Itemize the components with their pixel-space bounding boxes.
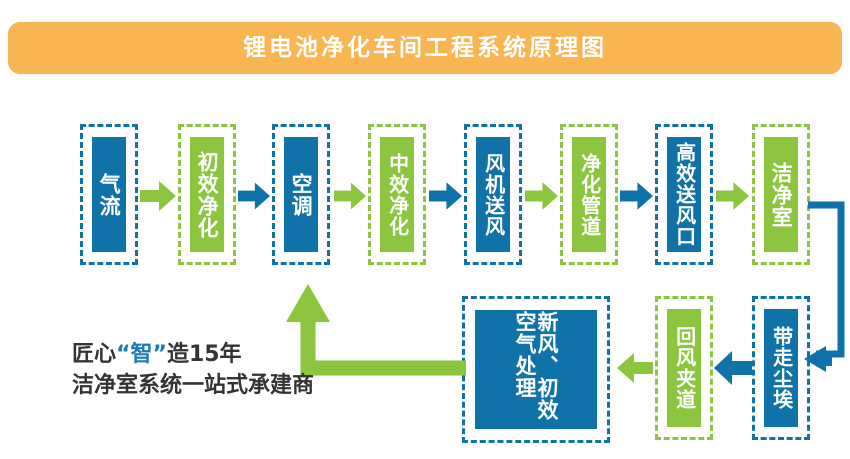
flow-arrow-8-left-icon (617, 353, 653, 383)
node-fill: 洁净室 (764, 137, 798, 252)
flow-node-label: 新风、初效空气处理 (514, 311, 558, 429)
flow-arrow-6-right-icon (620, 181, 653, 211)
flow-arrow-7-right-icon (716, 181, 749, 211)
node-fill: 中效净化 (380, 137, 414, 252)
flow-node-label: 高效送风口 (673, 142, 694, 247)
flow-arrow-2-right-icon (238, 181, 270, 211)
flow-node-label: 中效净化 (386, 153, 407, 237)
flow-node-carry-away-dust[interactable]: 带走尘埃 (752, 296, 810, 440)
flow-node-cleanroom[interactable]: 洁净室 (752, 124, 810, 265)
flow-node-return-air-duct[interactable]: 回风夹道 (655, 296, 713, 440)
tagline-line1-accent: “智” (116, 342, 167, 367)
flow-node-primary-filter[interactable]: 初效净化 (178, 124, 236, 265)
node-fill: 空调 (284, 137, 318, 252)
page-title: 锂电池净化车间工程系统原理图 (243, 37, 607, 60)
flow-node-label: 风机送风 (482, 153, 503, 237)
diagram-canvas: 锂电池净化车间工程系统原理图 气流 初效净化 空调 中效净化 风机送风 净化管道 (0, 0, 850, 459)
flow-node-label: 回风夹道 (673, 326, 694, 410)
flow-node-fresh-air-treatment[interactable]: 新风、初效空气处理 (462, 296, 610, 443)
flow-node-label: 洁净室 (770, 162, 792, 228)
flow-node-fan-supply[interactable]: 风机送风 (464, 124, 522, 265)
flow-arrow-5-right-icon (525, 181, 558, 211)
node-fill: 新风、初效空气处理 (475, 310, 597, 429)
node-fill: 回风夹道 (667, 309, 701, 427)
tagline-line-1: 匠心“智”造15年 (72, 340, 314, 369)
node-fill: 带走尘埃 (764, 309, 798, 427)
flow-node-clean-duct[interactable]: 净化管道 (560, 124, 618, 265)
node-fill: 净化管道 (572, 137, 606, 252)
flow-arrow-9-left-icon (714, 351, 752, 385)
flow-node-label: 初效净化 (196, 151, 218, 239)
node-fill: 高效送风口 (667, 137, 701, 252)
tagline-line1-pre: 匠心 (72, 342, 116, 367)
flow-node-label: 空调 (290, 173, 312, 217)
tagline-line1-post: 造15年 (167, 342, 242, 367)
flow-arrow-3-right-icon (334, 181, 366, 211)
node-fill: 初效净化 (190, 137, 224, 252)
flow-arrow-4-right-icon (429, 181, 462, 211)
flow-arrow-1-right-icon (140, 181, 176, 211)
flow-node-label: 净化管道 (578, 153, 599, 237)
node-fill: 气流 (92, 137, 126, 252)
tagline-line-2: 洁净室系统一站式承建商 (72, 371, 314, 400)
flow-node-ac-unit[interactable]: 空调 (272, 124, 330, 265)
flow-node-label: 带走尘埃 (770, 326, 791, 410)
node-fill: 风机送风 (476, 137, 510, 252)
title-banner: 锂电池净化车间工程系统原理图 (8, 22, 842, 74)
tagline: 匠心“智”造15年 洁净室系统一站式承建商 (72, 340, 314, 401)
flow-node-medium-filter[interactable]: 中效净化 (368, 124, 426, 265)
flow-node-hepa-outlet[interactable]: 高效送风口 (655, 124, 713, 265)
flow-node-label: 气流 (98, 173, 120, 217)
connector-cleanroom-to-dust (808, 196, 850, 376)
flow-node-airflow[interactable]: 气流 (80, 124, 138, 265)
